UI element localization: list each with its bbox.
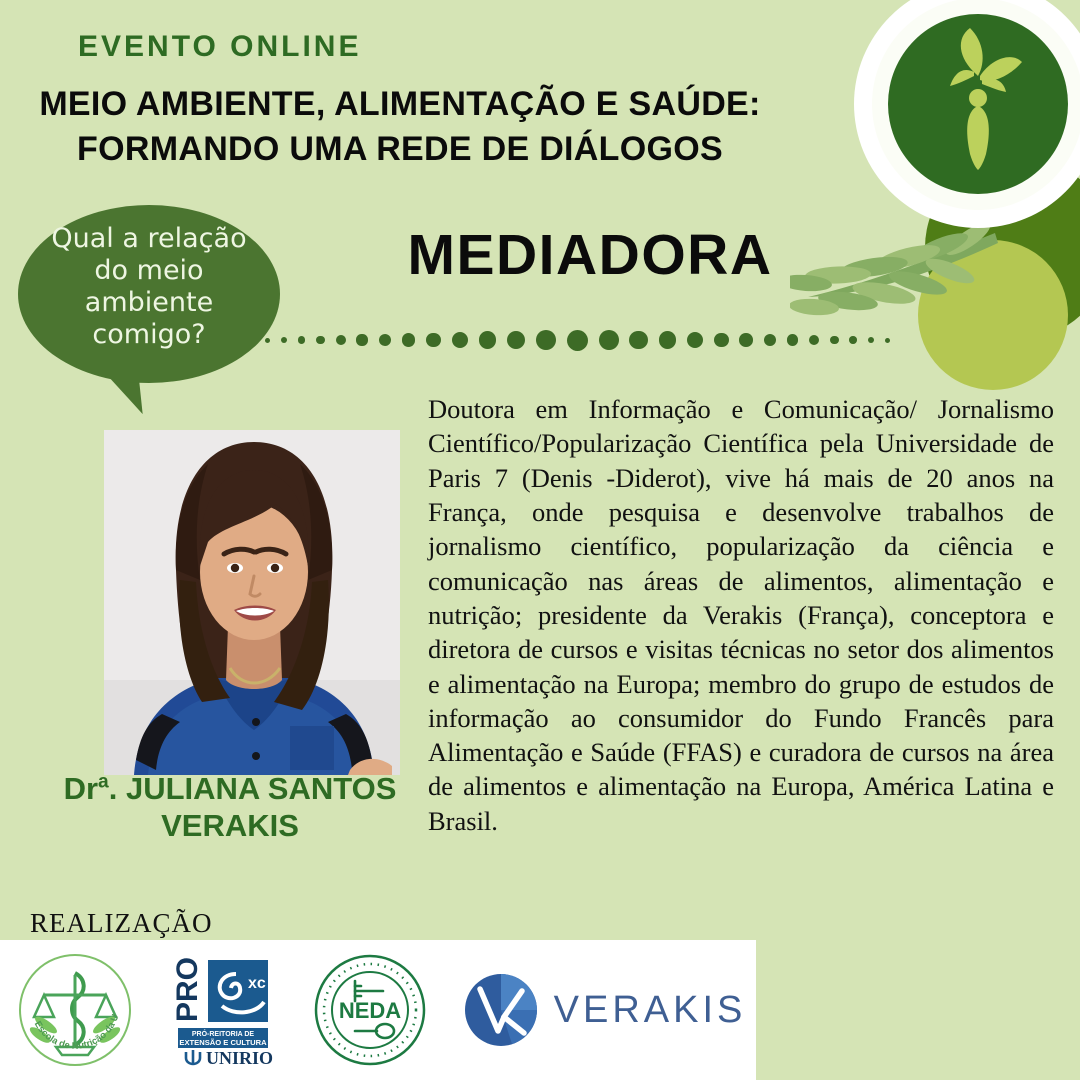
logo-verakis: VERAKIS	[450, 973, 756, 1047]
divider-dot	[402, 333, 416, 347]
logo-escola-nutricao-unirio: Escola de Nutrição da Unirio	[0, 951, 150, 1069]
proexc-subline-2: EXTENSÃO E CULTURA	[179, 1038, 267, 1047]
divider-dot	[599, 330, 619, 350]
speaker-name-line-2: VERAKIS	[30, 807, 430, 844]
title-line-1: MEIO AMBIENTE, ALIMENTAÇÃO E SAÚDE:	[0, 82, 800, 127]
section-label-mediadora: MEDIADORA	[290, 222, 890, 288]
plant-person-logo	[888, 14, 1068, 194]
divider-dot	[764, 334, 776, 346]
event-eyebrow: EVENTO ONLINE	[78, 30, 361, 64]
divider-dot	[659, 331, 676, 348]
verakis-mark-icon	[464, 973, 538, 1047]
page-title: MEIO AMBIENTE, ALIMENTAÇÃO E SAÚDE: FORM…	[0, 82, 800, 172]
divider-dot	[356, 334, 367, 345]
divider-dot	[787, 334, 798, 345]
divider-dot	[830, 336, 839, 345]
divider-dot	[629, 331, 648, 350]
proexc-pro-text: PRO	[171, 957, 204, 1022]
dot-divider	[265, 326, 890, 354]
speaker-name-line-1: . JULIANA SANTOS	[109, 771, 397, 806]
proexc-subline-1: PRÓ-REITORIA DE	[192, 1029, 255, 1038]
divider-dot	[809, 335, 819, 345]
divider-dot	[739, 333, 753, 347]
sponsor-logo-strip: Escola de Nutrição da Unirio PRO xc PR	[0, 940, 756, 1080]
speaker-photo	[104, 430, 400, 775]
divider-dot	[687, 332, 703, 348]
title-line-2: FORMANDO UMA REDE DE DIÁLOGOS	[0, 127, 800, 172]
proexc-xc-text: xc	[248, 975, 266, 992]
poster-canvas: EVENTO ONLINE MEIO AMBIENTE, ALIMENTAÇÃO…	[0, 0, 1080, 1080]
divider-dot	[336, 335, 346, 345]
bubble-line-1: Qual a relação	[18, 223, 280, 255]
bubble-line-4: comigo?	[18, 319, 280, 351]
divider-dot	[452, 332, 468, 348]
divider-dot	[536, 330, 556, 350]
speech-bubble-text: Qual a relação do meio ambiente comigo?	[18, 223, 280, 350]
logo-proexc-unirio: PRO xc PRÓ-REITORIA DE EXTENSÃO E CULTUR…	[150, 952, 290, 1068]
neda-word: NEDA	[339, 998, 401, 1023]
divider-dot	[426, 333, 441, 348]
divider-dot	[507, 331, 526, 350]
speaker-title-prefix: Dr	[64, 771, 98, 806]
divider-dot	[714, 333, 729, 348]
svg-text:Escola de Nutrição da Unirio: Escola de Nutrição da Unirio	[16, 951, 121, 1052]
logo-neda: NEDA	[290, 951, 450, 1069]
divider-dot	[849, 336, 857, 344]
divider-dot	[868, 337, 874, 343]
speaker-name: Dra. JULIANA SANTOS VERAKIS	[30, 770, 430, 844]
escola-nutricao-ring-text: Escola de Nutrição da Unirio	[16, 951, 121, 1052]
speaker-bio: Doutora em Informação e Comunicação/ Jor…	[428, 392, 1054, 838]
unirio-text: UNIRIO	[206, 1048, 273, 1068]
divider-dot	[379, 334, 391, 346]
divider-dot	[298, 336, 306, 344]
speaker-title-sup: a	[98, 772, 109, 793]
realizacao-label: REALIZAÇÃO	[30, 908, 212, 939]
verakis-wordmark: VERAKIS	[554, 989, 747, 1032]
bubble-line-3: ambiente	[18, 287, 280, 319]
divider-dot	[316, 336, 325, 345]
bubble-line-2: do meio	[18, 255, 280, 287]
speech-bubble: Qual a relação do meio ambiente comigo?	[8, 205, 298, 445]
divider-dot	[479, 331, 496, 348]
divider-dot	[567, 330, 588, 351]
divider-dot	[885, 338, 890, 343]
